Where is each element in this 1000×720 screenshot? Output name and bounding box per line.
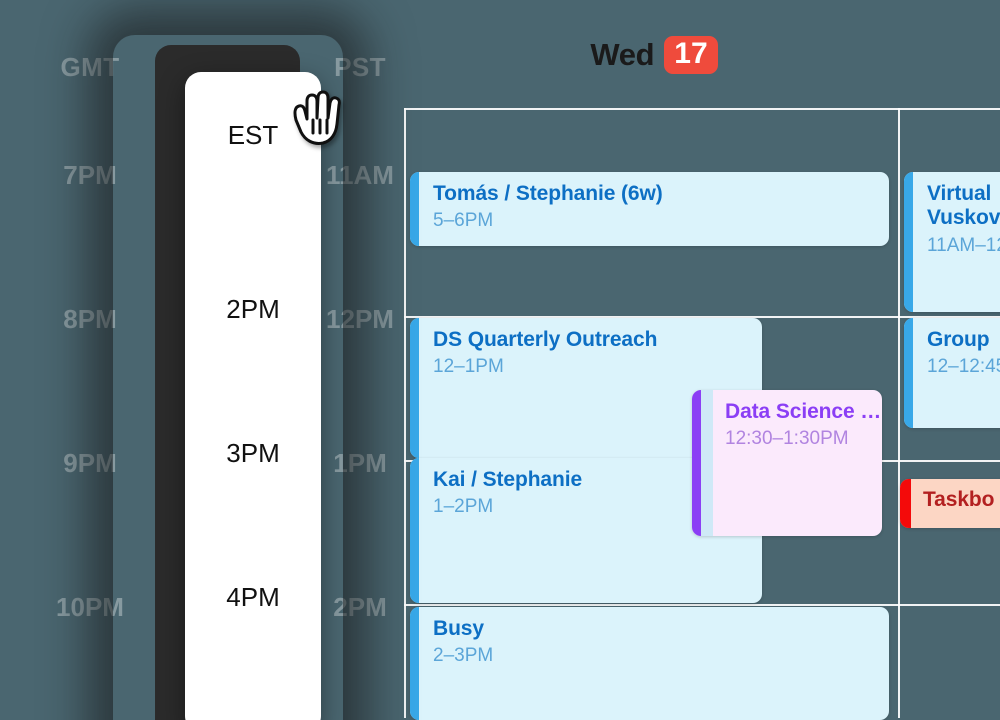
event-card-virtual-vuskovic[interactable]: Virtual Vuskov 11AM–12 (904, 172, 1000, 312)
dragged-hour-2: 4PM (185, 582, 321, 613)
tz-gmt-hour-1: 8PM (30, 304, 150, 335)
event-accent-bar (692, 390, 701, 536)
event-time: 5–6PM (433, 209, 889, 234)
event-title: Taskbo (923, 488, 1000, 512)
gridline-horizontal-0 (404, 108, 1000, 110)
dragged-hour-1: 3PM (185, 438, 321, 469)
event-secondary-strip (701, 390, 713, 536)
day-header[interactable]: Wed 17 (404, 0, 904, 110)
event-accent-bar (410, 607, 419, 720)
gridline-horizontal-3 (404, 604, 1000, 606)
event-accent-bar (904, 172, 913, 312)
event-body: Group 12–12:45 (913, 318, 1000, 428)
event-time: 12–12:45 (927, 355, 1000, 380)
calendar-grid: Wed 17 Tomás / Stephanie (6w) 5–6PM DS Q… (404, 0, 1000, 720)
day-weekday-label: Wed (590, 37, 654, 73)
event-body: Tomás / Stephanie (6w) 5–6PM (419, 172, 889, 246)
event-card-tomas-stephanie[interactable]: Tomás / Stephanie (6w) 5–6PM (410, 172, 889, 246)
event-time: 11AM–12 (927, 234, 1000, 259)
event-card-group[interactable]: Group 12–12:45 (904, 318, 1000, 428)
event-title: Group (927, 328, 1000, 352)
event-card-taskbox[interactable]: Taskbo (900, 479, 1000, 528)
event-accent-bar (410, 458, 419, 603)
event-title: DS Quarterly Outreach (433, 328, 762, 352)
event-body: Busy 2–3PM (419, 607, 889, 720)
event-title: Data Science … (725, 400, 882, 424)
event-time: 2–3PM (433, 644, 889, 669)
timezone-rail-gmt[interactable]: GMT 7PM 8PM 9PM 10PM (30, 0, 150, 720)
event-accent-bar (900, 479, 911, 528)
calendar-timezone-drag-screen: GMT 7PM 8PM 9PM 10PM PST 11AM 12PM 1PM 2… (0, 0, 1000, 720)
tz-gmt-hour-2: 9PM (30, 448, 150, 479)
timezone-label-gmt: GMT (30, 52, 150, 83)
dragged-hour-0: 2PM (185, 294, 321, 325)
day-date-badge: 17 (664, 36, 717, 74)
dragged-timezone-card-est[interactable]: EST 2PM 3PM 4PM 5PM (185, 72, 321, 720)
event-card-data-science[interactable]: Data Science … 12:30–1:30PM (692, 390, 882, 536)
event-time: 12:30–1:30PM (725, 427, 882, 452)
dragged-timezone-label: EST (185, 120, 321, 151)
event-accent-bar (410, 172, 419, 246)
event-body: Taskbo (911, 479, 1000, 528)
event-body: Virtual Vuskov 11AM–12 (913, 172, 1000, 312)
tz-gmt-hour-3: 10PM (30, 592, 150, 623)
event-title: Virtual Vuskov (927, 182, 1000, 231)
event-title: Busy (433, 617, 889, 641)
event-time: 12–1PM (433, 355, 762, 380)
gridline-vertical-right (898, 108, 900, 718)
tz-gmt-hour-0: 7PM (30, 160, 150, 191)
event-accent-bar (904, 318, 913, 428)
gridline-vertical-left (404, 108, 406, 718)
event-accent-bar (410, 318, 419, 458)
event-card-busy[interactable]: Busy 2–3PM (410, 607, 889, 720)
event-title: Tomás / Stephanie (6w) (433, 182, 889, 206)
event-body: Data Science … 12:30–1:30PM (713, 390, 882, 536)
